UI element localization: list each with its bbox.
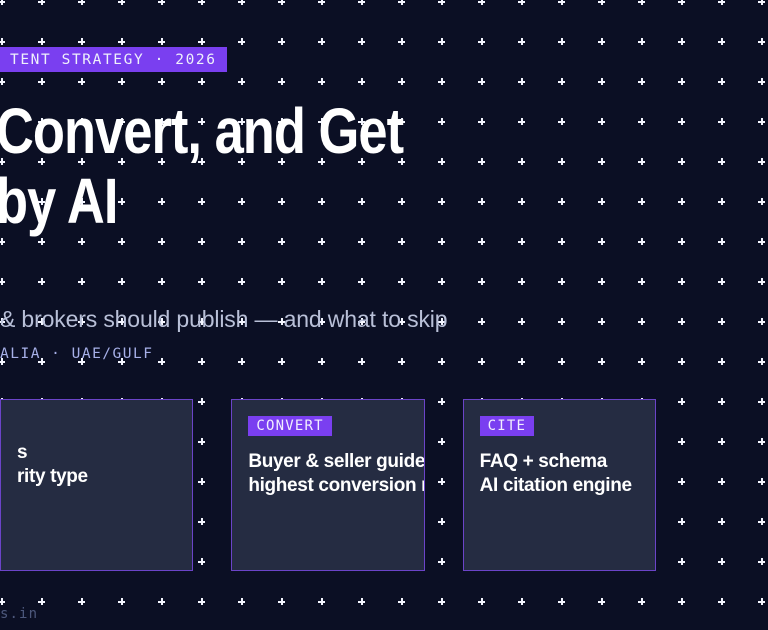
card-title-line-2: rity type xyxy=(17,465,176,489)
card-title-line-2: highest conversion rate xyxy=(248,474,407,498)
headline-line-1: Convert, and Get xyxy=(0,96,403,166)
card-title: Buyer & seller guides highest conversion… xyxy=(248,450,407,497)
card-badge: CONVERT xyxy=(248,416,331,436)
card-title-line-2: AI citation engine xyxy=(480,474,639,498)
card-title: FAQ + schema AI citation engine xyxy=(480,450,639,497)
feature-card[interactable]: CITE FAQ + schema AI citation engine xyxy=(463,399,656,571)
feature-card[interactable]: CONVERT Buyer & seller guides highest co… xyxy=(231,399,424,571)
eyebrow-badge: TENT STRATEGY · 2026 xyxy=(0,47,227,72)
card-title: s rity type xyxy=(17,441,176,488)
slide-content: TENT STRATEGY · 2026 Convert, and Get by… xyxy=(0,0,768,630)
card-row: s rity type CONVERT Buyer & seller guide… xyxy=(0,399,656,571)
footer-url: s.in xyxy=(0,606,38,622)
card-title-line-1: FAQ + schema xyxy=(480,450,639,474)
headline-line-2: by AI xyxy=(0,166,403,236)
page-title: Convert, and Get by AI xyxy=(0,96,403,236)
slide-canvas: TENT STRATEGY · 2026 Convert, and Get by… xyxy=(0,0,768,630)
card-title-line-1: s xyxy=(17,441,176,465)
card-badge: CITE xyxy=(480,416,535,436)
feature-card[interactable]: s rity type xyxy=(0,399,193,571)
card-title-line-1: Buyer & seller guides xyxy=(248,450,407,474)
subtitle-text: & brokers should publish — and what to s… xyxy=(0,303,447,335)
region-meta-line: ALIA · UAE/GULF xyxy=(0,346,153,362)
